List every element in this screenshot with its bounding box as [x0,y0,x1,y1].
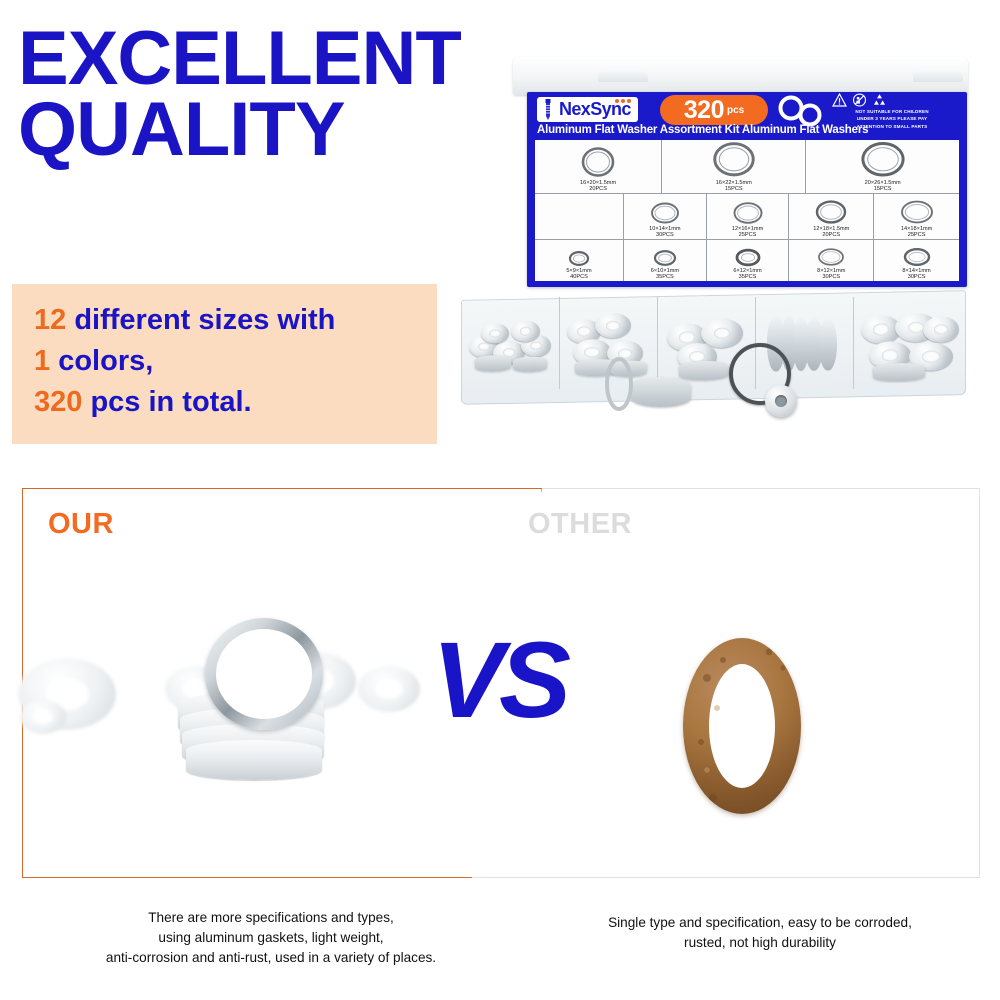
size-cell: 8×14×1mm 30PCS [874,240,959,281]
size-label: 20×26×1.5mm [865,180,901,186]
size-chart-grid: 16×20×1.5mm 20PCS 16×22×1.5mm 15PCS [535,140,959,281]
size-cell-caption: 12×18×1.5mm 20PCS [813,226,849,238]
spec-line-sizes: 12 different sizes with [34,300,437,341]
washer-outline-icon [567,250,591,267]
warning-text-line-1: NOT SUITABLE FOR CHILDREN [832,108,952,115]
washer-outline-icon [731,201,765,225]
qty-label: 20PCS [580,186,616,192]
washer-outline-icon [898,199,936,225]
size-cell: 14×18×1mm 25PCS [874,194,959,240]
size-cell: 20×26×1.5mm 15PCS [806,140,959,193]
tray-bin [467,304,557,384]
qty-label: 25PCS [732,232,763,238]
size-label: 16×22×1.5mm [716,180,752,186]
size-cell: 8×12×1mm 30PCS [789,240,874,281]
qty-label: 35PCS [733,274,761,280]
size-label: 16×20×1.5mm [580,180,616,186]
quantity-badge: 320 pcs [660,95,768,125]
size-cell-caption: 6×12×1mm 35PCS [733,268,761,280]
size-cell: 5×9×1mm 40PCS [535,240,624,281]
washer-stack-layer [186,740,322,780]
size-cell: 6×10×1mm 35PCS [624,240,707,281]
qty-label: 15PCS [865,186,901,192]
warning-icon-row [832,93,960,107]
vs-label: VS [432,626,566,734]
spec-color-count: 1 [34,345,50,377]
size-cell-caption: 12×16×1mm 25PCS [732,226,763,238]
washer-outline-icon [816,247,846,267]
label-subtitle: Aluminum Flat Washer Assortment Kit Alum… [537,124,957,136]
tray-divider [853,297,854,389]
screw-icon [542,99,554,121]
size-cell: 16×20×1.5mm 20PCS [535,140,662,193]
washer-outline-icon [854,140,912,179]
washer-outline-icon [578,145,618,179]
size-cell: 12×18×1.5mm 20PCS [789,194,874,240]
spec-total-text: pcs in total. [90,386,251,418]
no-children-under-3-icon [852,93,867,107]
size-cell-caption: 16×20×1.5mm 20PCS [580,180,616,192]
size-chart-row: 10×14×1mm 30PCS 12×16×1mm 25PCS [535,194,959,241]
washer-outline-icon [902,247,932,267]
washer-outline-icon [652,249,678,267]
our-caption-line-1: There are more specifications and types, [36,908,506,928]
qty-label: 35PCS [651,274,679,280]
tray-bin [857,304,961,384]
quantity-unit: pcs [727,105,744,116]
qty-label: 30PCS [649,232,680,238]
washer-storage-tray [461,285,991,420]
product-infographic: EXCELLENT QUALITY 12 different sizes wit… [0,0,1000,1000]
recycle-icon [872,93,887,107]
product-photo: NexSync 320 pcs [455,35,1000,475]
washer-outline-icon [813,199,849,225]
other-caption: Single type and specification, easy to b… [548,913,972,953]
qty-label: 20PCS [813,232,849,238]
size-cell: 16×22×1.5mm 15PCS [662,140,806,193]
size-chart-row: 5×9×1mm 40PCS 6×10×1mm 35PCS [535,240,959,281]
our-caption: There are more specifications and types,… [36,908,506,968]
washer-outline-icon [734,248,762,267]
qty-label: 25PCS [901,232,932,238]
size-cell: 12×16×1mm 25PCS [707,194,790,240]
spec-summary-box: 12 different sizes with 1 colors, 320 pc… [12,284,437,444]
qty-label: 30PCS [817,274,845,280]
washer-rings-icon [775,95,827,127]
other-label: OTHER [528,508,632,541]
warning-text-line-2: UNDER 3 YEARS PLEASE PAY [832,115,952,122]
warning-triangle-icon [832,93,847,107]
qty-label: 15PCS [716,186,752,192]
foreground-washer [765,385,797,417]
spec-line-colors: 1 colors, [34,341,437,382]
size-cell-caption: 14×18×1mm 25PCS [901,226,932,238]
spec-color-text: colors, [58,345,153,377]
case-hinge-right [913,71,963,82]
size-cell-caption: 10×14×1mm 30PCS [649,226,680,238]
washer-outline-icon [648,201,682,225]
spec-line-total: 320 pcs in total. [34,382,437,423]
size-cell-caption: 8×14×1mm 30PCS [902,268,930,280]
standing-washer-icon [599,357,639,411]
our-product-photo [0,600,420,800]
our-caption-line-3: anti-corrosion and anti-rust, used in a … [36,948,506,968]
our-label: OUR [48,508,114,541]
tray-divider [559,297,560,389]
size-chart-row: 16×20×1.5mm 20PCS 16×22×1.5mm 15PCS [535,140,959,194]
size-cell-caption: 8×12×1mm 30PCS [817,268,845,280]
brand-badge: NexSync [537,97,638,122]
size-cell: 10×14×1mm 30PCS [624,194,707,240]
other-caption-line-2: rusted, not high durability [548,933,972,953]
our-caption-line-2: using aluminum gaskets, light weight, [36,928,506,948]
size-cell-caption: 16×22×1.5mm 15PCS [716,180,752,192]
standing-washer [205,618,323,730]
corroded-washer [683,638,801,814]
qty-label: 40PCS [566,274,591,280]
background-washer [20,700,66,734]
case-hinge-left [598,71,648,82]
spec-size-count: 12 [34,304,66,336]
spec-size-text: different sizes with [74,304,335,336]
rust-texture [683,638,801,814]
package-label: NexSync 320 pcs [527,92,967,287]
other-caption-line-1: Single type and specification, easy to b… [548,913,972,933]
label-header: NexSync 320 pcs [527,92,967,140]
brand-dots-icon [615,99,631,103]
quantity-value: 320 [684,96,724,125]
size-cell [535,194,624,240]
size-cell-caption: 6×10×1mm 35PCS [651,268,679,280]
spec-total-count: 320 [34,386,82,418]
washer-outline-icon [707,140,761,179]
size-cell-caption: 20×26×1.5mm 15PCS [865,180,901,192]
size-cell-caption: 5×9×1mm 40PCS [566,268,591,280]
tray-divider [657,297,658,389]
case-lid [513,57,968,95]
qty-label: 30PCS [902,274,930,280]
rust-spots-icon [683,638,801,814]
loose-washer-stack [631,377,691,407]
background-washer [358,666,420,712]
size-cell: 6×12×1mm 35PCS [707,240,790,281]
